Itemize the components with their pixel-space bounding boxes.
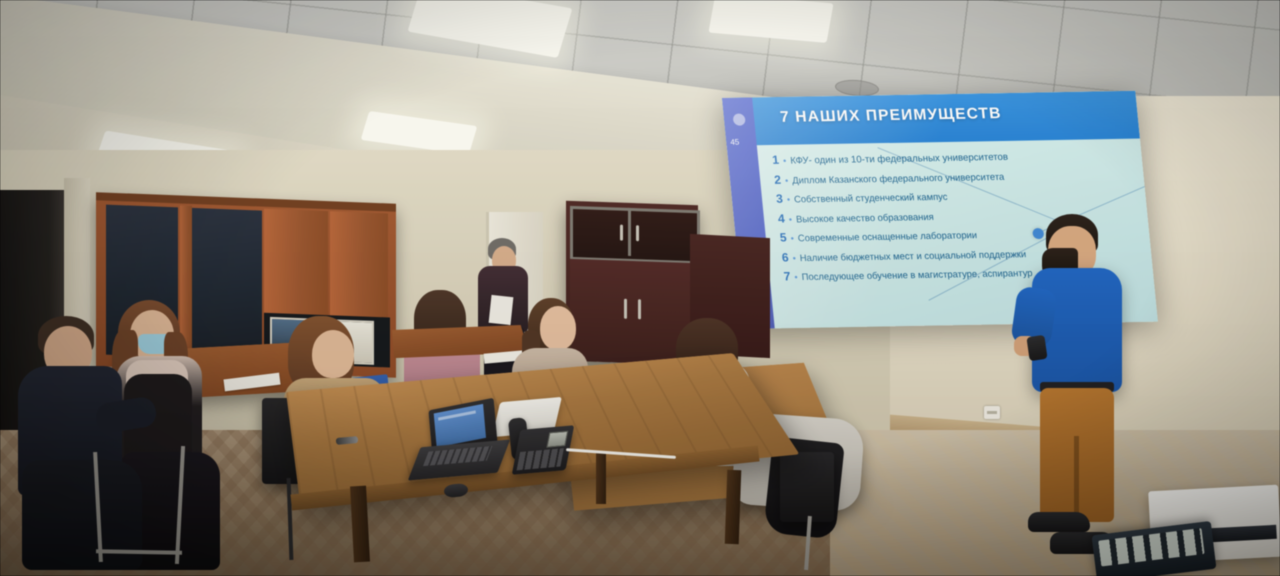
photo-scene: 7 НАШИХ ПРЕИМУЩЕСТВ 45 1 • КФУ- один из … (0, 0, 1280, 576)
mixer-buttons[interactable] (1098, 528, 1204, 566)
held-papers (489, 295, 514, 325)
cabinet-glass-door[interactable] (192, 208, 262, 361)
laptop-display (434, 404, 486, 447)
remote-clicker[interactable] (1026, 335, 1047, 361)
phone-display (546, 431, 568, 448)
shoe (1028, 512, 1090, 532)
cabinet-glass-door[interactable] (570, 206, 700, 265)
cabinet-handle[interactable] (636, 225, 639, 241)
head (312, 330, 354, 378)
cabinet-handle[interactable] (620, 225, 623, 241)
phone-keypad[interactable] (517, 448, 564, 470)
power-outlet (984, 406, 1000, 419)
cabinet-divider (628, 208, 631, 256)
office-chair[interactable] (780, 452, 834, 522)
cabinet-handle[interactable] (624, 299, 627, 319)
desk-phone[interactable] (512, 425, 575, 475)
table-leg (725, 470, 742, 544)
cabinet-handle[interactable] (638, 299, 641, 319)
keyboard-keys[interactable] (423, 446, 492, 466)
leg-seam (1074, 436, 1079, 524)
head (540, 306, 576, 350)
table-leg (596, 452, 606, 504)
